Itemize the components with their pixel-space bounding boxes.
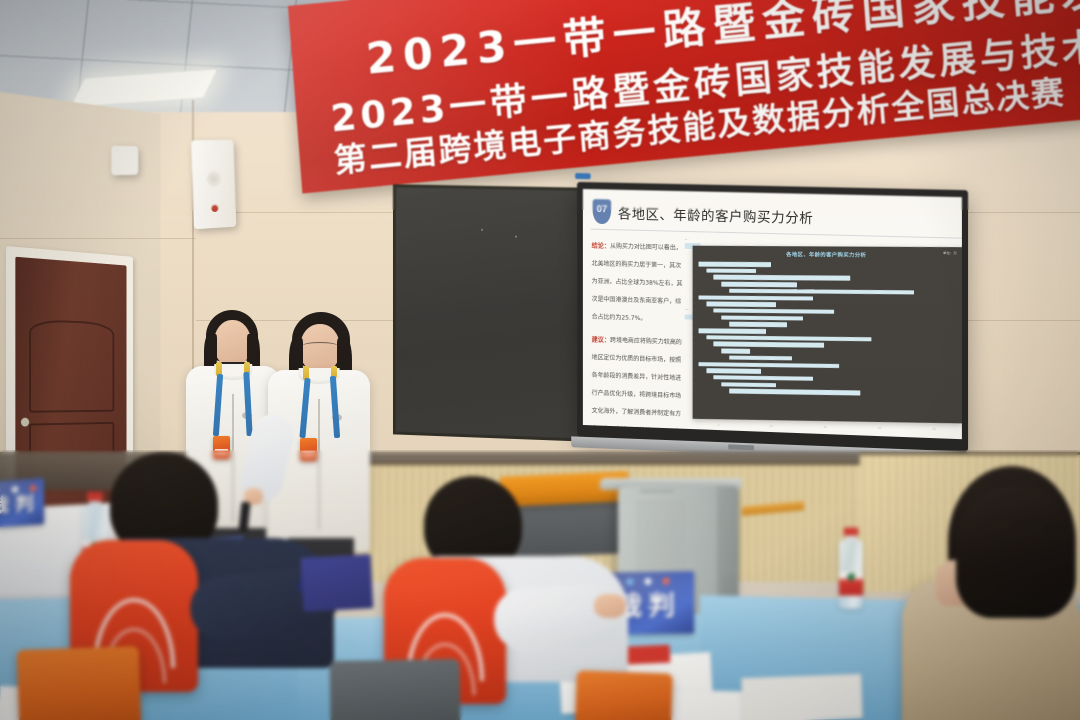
chart-y-tick: · bbox=[694, 334, 695, 338]
banner-line-1: 2023一带一路暨金砖国家技能发展与技术创新大赛 bbox=[328, 0, 1080, 142]
chart-y-tick: · bbox=[694, 274, 695, 278]
presenter-badge bbox=[300, 438, 317, 461]
speaker-cone-icon bbox=[206, 171, 221, 186]
slide-content: 07 各地区、年龄的客户购买力分析 结论：从购买力对比图可以看出，北美地区的购买… bbox=[583, 189, 962, 439]
bottle-leaf-icon bbox=[847, 574, 854, 581]
display-brand-logo bbox=[728, 444, 754, 450]
paragraph-tag: 建议： bbox=[592, 336, 610, 344]
podium-speaker-grille-icon bbox=[636, 500, 684, 576]
chart-x-tick: 20 bbox=[769, 424, 773, 428]
chart-side-note-2: ··· bbox=[685, 306, 689, 311]
bottle-cap bbox=[844, 528, 859, 536]
chart-side-note-1: ·· bbox=[685, 237, 688, 242]
chart-bar bbox=[729, 389, 861, 396]
paper-sheet bbox=[741, 674, 862, 720]
chart-bar bbox=[729, 322, 787, 327]
chart-y-tick: · bbox=[694, 327, 695, 331]
judge-chair bbox=[17, 646, 142, 720]
chart-y-tick: · bbox=[694, 354, 695, 358]
slide-paragraph-suggestion: 建议：跨境电商应将购买力较高的地区定位为优质的目标市场，按照各年龄段的消费差异，… bbox=[592, 328, 685, 439]
chart-y-tick: · bbox=[694, 374, 695, 378]
chart-y-tick: · bbox=[694, 381, 695, 385]
chart-y-tick: · bbox=[694, 287, 695, 291]
nameplate-label: 裁判 bbox=[0, 488, 40, 518]
chart-y-tick: · bbox=[694, 301, 695, 305]
chart-bar bbox=[714, 275, 850, 281]
chart-bar bbox=[706, 302, 776, 307]
chart-bar bbox=[721, 382, 776, 387]
podium-vent-slot bbox=[640, 490, 674, 492]
glasses-icon bbox=[302, 342, 338, 350]
paragraph-tag: 结论： bbox=[592, 243, 610, 250]
slide-section-badge: 07 bbox=[593, 199, 612, 224]
blackboard-panel bbox=[393, 184, 589, 441]
chart-bar bbox=[706, 335, 871, 341]
chart-y-tick: · bbox=[694, 261, 695, 265]
judge-chair bbox=[329, 659, 460, 720]
chart-bar bbox=[721, 282, 797, 287]
chart-x-tick: 40 bbox=[823, 425, 827, 429]
slide-text-column: 结论：从购买力对比图可以看出，北美地区的购买力居于第一，其次为亚洲，占比全球为3… bbox=[592, 235, 685, 440]
chart-y-tick: · bbox=[694, 281, 695, 285]
wall-speaker-large bbox=[191, 140, 236, 229]
tablet-screen[interactable] bbox=[301, 554, 374, 612]
jacket-zipper bbox=[318, 399, 320, 530]
door-knob[interactable] bbox=[21, 418, 29, 427]
bottle-label bbox=[839, 572, 863, 596]
chart-y-tick: · bbox=[694, 314, 695, 318]
banner-line-top: 2023一带一路暨金砖国家技能发展与技术创新 bbox=[364, 0, 1080, 87]
speaker-led-icon bbox=[211, 205, 218, 212]
chart-bar bbox=[706, 268, 755, 273]
slide-title: 各地区、年龄的客户购买力分析 bbox=[618, 202, 813, 226]
photo-scene: 2023一带一路暨金砖国家技能发展与技术创新 2023一带一路暨金砖国家技能发展… bbox=[0, 0, 1080, 720]
chart-y-tick: · bbox=[694, 294, 695, 298]
door-panel bbox=[30, 319, 114, 413]
chart-bar bbox=[699, 262, 772, 267]
water-bottle[interactable] bbox=[839, 528, 863, 609]
chart-y-tick: · bbox=[694, 387, 695, 391]
chart-y-tick: · bbox=[694, 341, 695, 345]
chart-bar bbox=[699, 362, 840, 368]
chart-x-axis: 020406080 bbox=[693, 423, 962, 432]
chart-bar bbox=[706, 368, 761, 373]
jacket-zipper bbox=[232, 394, 234, 522]
chart-bar bbox=[714, 308, 834, 314]
chart-y-tick: · bbox=[694, 267, 695, 271]
judge-chair bbox=[575, 670, 673, 720]
interactive-display[interactable]: 07 各地区、年龄的客户购买力分析 结论：从购买力对比图可以看出，北美地区的购买… bbox=[577, 182, 968, 452]
chart-y-tick: · bbox=[694, 347, 695, 351]
chart-bar bbox=[714, 342, 824, 348]
chart-title: 各地区、年龄的客户购买力分析 bbox=[699, 250, 956, 260]
nameplate-judge-left: 裁判 bbox=[0, 478, 44, 528]
chart-x-tick: 0 bbox=[718, 423, 720, 427]
chart-x-tick: 80 bbox=[933, 427, 937, 431]
chart-bar bbox=[699, 328, 767, 333]
chart-bar bbox=[729, 355, 792, 360]
wall-seam bbox=[0, 238, 196, 239]
chart-y-tick: · bbox=[694, 361, 695, 365]
chart-bar bbox=[714, 375, 813, 381]
observer-hair bbox=[956, 486, 1076, 618]
chart-bar bbox=[729, 289, 914, 295]
chart-corner-note: 单位：万 bbox=[943, 250, 957, 255]
presenter-badge bbox=[213, 436, 230, 459]
presenter-head bbox=[214, 320, 251, 366]
chart-card: 各地区、年龄的客户购买力分析 单位：万 ····················… bbox=[693, 246, 962, 424]
bottle-cap bbox=[87, 492, 103, 501]
chart-bar bbox=[721, 349, 750, 354]
paragraph-body: 从购买力对比图可以看出，北美地区的购买力居于第一，其次为亚洲，占比全球为38%左… bbox=[592, 243, 683, 322]
chart-bar bbox=[721, 315, 802, 320]
slide-paragraph-conclusion: 结论：从购买力对比图可以看出，北美地区的购买力居于第一，其次为亚洲，占比全球为3… bbox=[592, 235, 685, 327]
bottle-body bbox=[839, 540, 863, 608]
chart-y-tick: · bbox=[694, 307, 695, 311]
chart-plot-area: ···················· bbox=[699, 261, 956, 398]
chart-bar bbox=[699, 295, 814, 301]
slide-header: 07 各地区、年龄的客户购买力分析 bbox=[593, 199, 814, 229]
display-camera-icon bbox=[575, 173, 591, 179]
wall-speaker-small bbox=[111, 146, 138, 175]
chart-x-tick: 60 bbox=[878, 426, 882, 430]
judge-hand bbox=[594, 594, 626, 618]
chart-y-tick: · bbox=[694, 321, 695, 325]
paragraph-body: 跨境电商应将购买力较高的地区定位为优质的目标市场，按照各年龄段的消费差异，针对性… bbox=[592, 337, 682, 439]
chart-y-tick: · bbox=[694, 367, 695, 371]
